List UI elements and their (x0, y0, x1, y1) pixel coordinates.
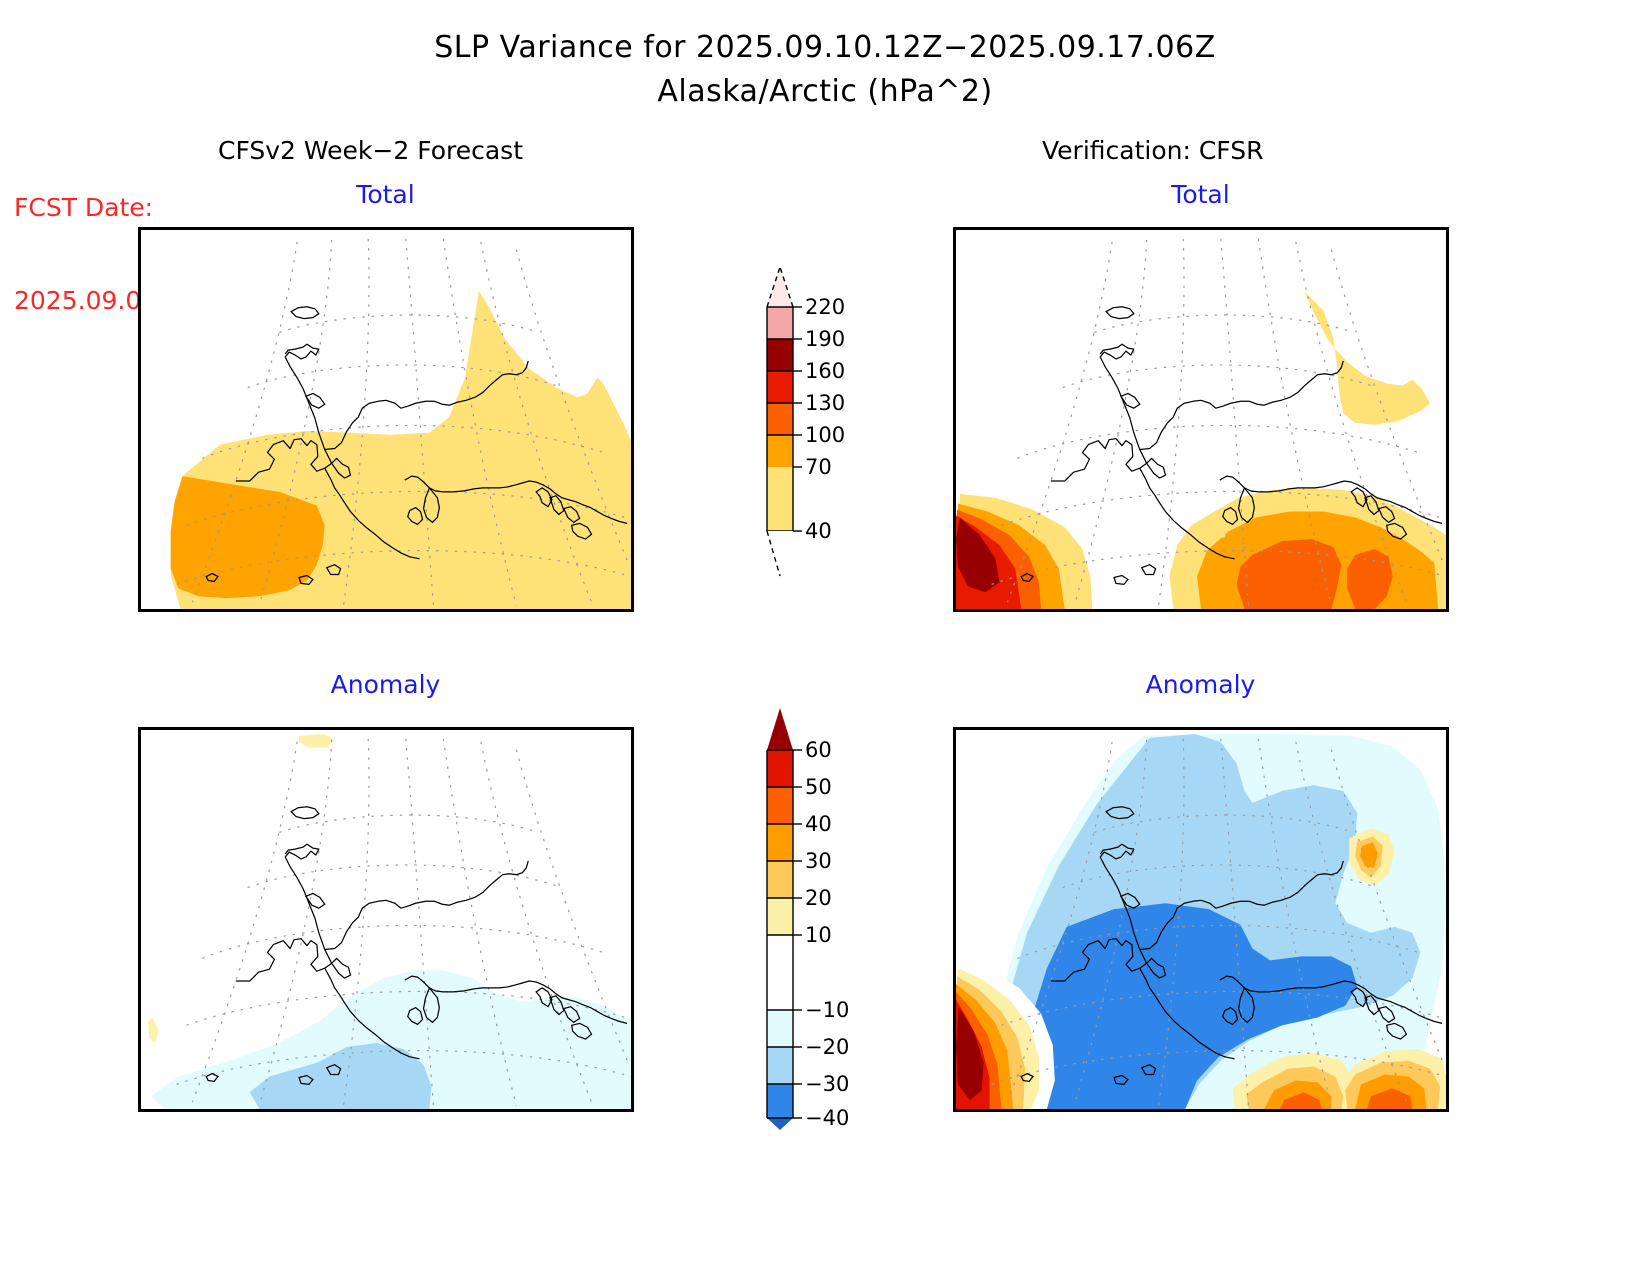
fcst-date-block: FCST Date: 2025.09.03 (14, 130, 157, 347)
fcst-date-value: 2025.09.03 (14, 285, 157, 316)
colorbar-band-40-70 (767, 467, 793, 499)
chart-title-line-2: Alaska/Arctic (hPa^2) (0, 74, 1650, 109)
colorbar-band-160-190 (767, 339, 793, 371)
colorbar-tick-190: 190 (805, 327, 845, 351)
map-panel-bottom-right[interactable] (953, 727, 1449, 1112)
colorbar-anomaly[interactable]: 60 50 40 30 20 10 −10 −20 −30 −40 (752, 706, 872, 1131)
map-panel-top-left[interactable] (138, 227, 634, 612)
colorbar-band-10-20 (767, 898, 793, 935)
colorbar-extend-top (767, 267, 793, 307)
colorbar-band-40-70-lower (767, 499, 793, 531)
colorbar-tick-220: 220 (805, 295, 845, 319)
chart-title-line-1: SLP Variance for 2025.09.10.12Z−2025.09.… (0, 30, 1650, 65)
panel-subtitle-top-left: Total (138, 180, 633, 209)
panel-subtitle-bottom-left: Anomaly (138, 670, 633, 699)
colorbar-band-minus20-minus10 (767, 1010, 793, 1047)
map-svg-bottom-right (956, 730, 1446, 1109)
colorbar-tick-30: 30 (805, 849, 832, 873)
colorbar-band-minus40-minus30 (767, 1084, 793, 1118)
colorbar-band-30-40 (767, 824, 793, 861)
fcst-date-label: FCST Date: (14, 192, 157, 223)
colorbar-band-190-220 (767, 307, 793, 339)
colorbar-tick-70: 70 (805, 455, 832, 479)
colorbar-band-70-100 (767, 435, 793, 467)
colorbar-extend-bottom (767, 1118, 793, 1130)
map-panel-bottom-left[interactable] (138, 727, 634, 1112)
colorbar-tick-minus30: −30 (805, 1072, 849, 1096)
colorbar-band-50-60 (767, 750, 793, 787)
colorbar-band-20-30 (767, 861, 793, 898)
colorbar-tick-60: 60 (805, 738, 832, 762)
panel-subtitle-top-right: Total (953, 180, 1448, 209)
colorbar-tick-40: 40 (805, 519, 832, 543)
colorbar-band-minus30-minus20 (767, 1047, 793, 1084)
colorbar-tick-minus10: −10 (805, 998, 849, 1022)
column-header-forecast: CFSv2 Week−2 Forecast (218, 136, 523, 165)
colorbar-extend-top (767, 708, 793, 750)
colorbar-tick-160: 160 (805, 359, 845, 383)
colorbar-tick-40: 40 (805, 812, 832, 836)
colorbar-band-minus10-10 (767, 935, 793, 1010)
colorbar-band-40-50 (767, 787, 793, 824)
map-svg-top-left (141, 230, 631, 609)
colorbar-tick-50: 50 (805, 775, 832, 799)
colorbar-tick-130: 130 (805, 391, 845, 415)
colorbar-band-100-130 (767, 403, 793, 435)
map-svg-bottom-left (141, 730, 631, 1109)
colorbar-extend-bottom (767, 531, 793, 576)
colorbar-band-130-160 (767, 371, 793, 403)
panel-subtitle-bottom-right: Anomaly (953, 670, 1448, 699)
colorbar-tick-10: 10 (805, 923, 832, 947)
colorbar-tick-minus20: −20 (805, 1035, 849, 1059)
column-header-verification: Verification: CFSR (1042, 136, 1263, 165)
colorbar-tick-minus40: −40 (805, 1106, 849, 1130)
colorbar-total[interactable]: 220 190 160 130 100 70 40 (752, 262, 872, 582)
colorbar-anomaly-svg: 60 50 40 30 20 10 −10 −20 −30 −40 (752, 706, 872, 1131)
colorbar-tick-20: 20 (805, 886, 832, 910)
map-panel-top-right[interactable] (953, 227, 1449, 612)
colorbar-tick-100: 100 (805, 423, 845, 447)
map-svg-top-right (956, 230, 1446, 609)
colorbar-total-svg: 220 190 160 130 100 70 40 (752, 262, 872, 582)
